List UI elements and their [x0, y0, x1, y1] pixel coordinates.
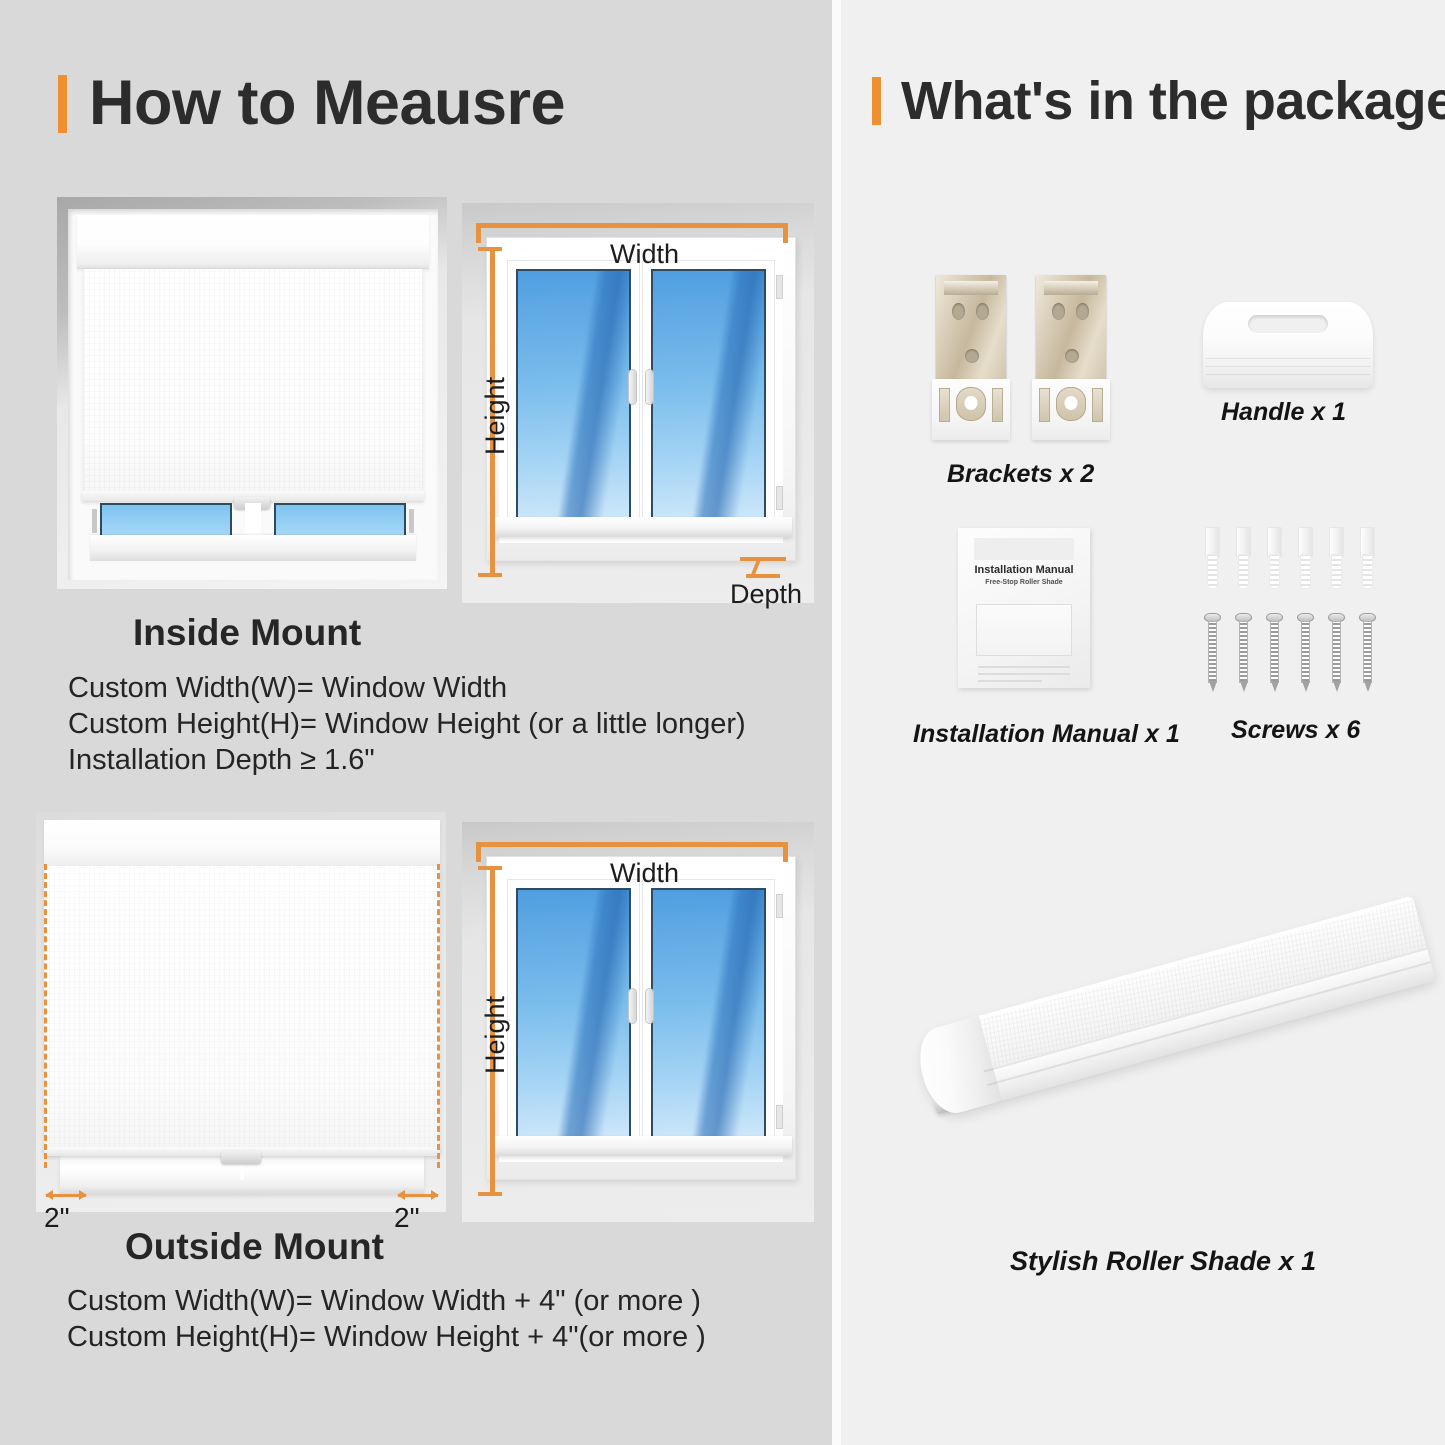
handle-grip-slot	[1248, 315, 1328, 333]
how-to-measure-panel: How to Meausre	[0, 0, 832, 1445]
visible-window-glass	[84, 503, 422, 561]
roller-shade-label: Stylish Roller Shade x 1	[1010, 1246, 1316, 1277]
screw-1	[1204, 613, 1221, 692]
brackets-label: Brackets x 2	[947, 460, 1094, 489]
window-frame-inner-2	[499, 869, 783, 1162]
wall-anchor-4	[1297, 527, 1314, 589]
bracket-2-plate	[1032, 379, 1110, 440]
bracket-1-plate	[932, 379, 1010, 440]
screws-image	[1204, 527, 1380, 692]
shade-headrail	[77, 215, 429, 269]
window-sill-ledge	[494, 517, 792, 537]
shade-fabric	[84, 269, 422, 494]
wall-anchor-3	[1266, 527, 1283, 589]
screw-3	[1266, 613, 1283, 692]
inside-mount-measure-diagram: Width Height Depth	[462, 203, 814, 603]
outside-mount-line-1: Custom Width(W)= Window Width + 4" (or m…	[67, 1283, 706, 1319]
handle-body	[1203, 302, 1373, 388]
width-callout-tick-left	[476, 223, 481, 243]
height-callout-tick-top-2	[478, 866, 502, 870]
width-callout-line	[476, 223, 788, 228]
window-glass-right-2	[651, 888, 766, 1143]
window-sash-right-2	[642, 879, 775, 1152]
width-callout-line-2	[476, 842, 788, 847]
sash-hinge-top-right-2	[777, 895, 782, 917]
bracket-2	[1032, 275, 1110, 440]
how-to-measure-heading: How to Meausre	[58, 72, 565, 135]
width-callout-tick-right	[783, 223, 788, 243]
depth-label: Depth	[730, 579, 802, 610]
overhang-guide-right	[437, 864, 440, 1168]
wall-anchor-1	[1204, 527, 1221, 589]
window-sash-right	[642, 260, 775, 533]
height-callout-tick-bottom-2	[478, 1192, 502, 1196]
inside-mount-line-2: Custom Height(H)= Window Height (or a li…	[68, 706, 746, 742]
inside-mount-instructions: Custom Width(W)= Window Width Custom Hei…	[68, 670, 746, 778]
window-glass-right	[651, 269, 766, 524]
roller-shade-end-cap	[911, 1016, 1002, 1120]
screw-2	[1235, 613, 1252, 692]
bracket-2-metal-body	[1036, 275, 1106, 387]
roller-shade-wrap	[905, 885, 1430, 1205]
roller-shade-tube	[911, 896, 1436, 1120]
screws-label: Screws x 6	[1231, 716, 1360, 745]
window-glass-left	[516, 269, 631, 524]
overhang-arrow-left	[46, 1194, 86, 1197]
roller-shade-image	[905, 885, 1430, 1205]
height-label-2: Height	[480, 996, 511, 1074]
screw-4	[1297, 613, 1314, 692]
window-hinge-right	[409, 509, 414, 533]
package-title: What's in the package	[901, 74, 1445, 128]
panel-divider	[832, 0, 841, 1445]
width-label: Width	[610, 239, 679, 270]
brackets-image	[932, 275, 1122, 440]
outside-mount-title: Outside Mount	[125, 1226, 384, 1268]
shade-headrail-outside	[44, 820, 440, 866]
window-frame	[486, 237, 796, 561]
window-sill	[90, 535, 416, 561]
shade-pull-handle-outside	[221, 1151, 261, 1164]
bracket-1	[932, 275, 1010, 440]
depth-callout-base	[746, 574, 780, 578]
overhang-arrow-right	[398, 1194, 438, 1197]
accent-bar-right	[872, 77, 881, 125]
handle-image	[1203, 302, 1373, 388]
sash-hinge-bottom-right	[777, 487, 782, 509]
bracket-1-metal-body	[936, 275, 1006, 387]
inside-mount-line-1: Custom Width(W)= Window Width	[68, 670, 746, 706]
how-to-measure-title: How to Meausre	[89, 72, 565, 135]
accent-bar-left	[58, 75, 67, 133]
height-callout-tick-bottom	[478, 573, 502, 577]
height-label: Height	[480, 377, 511, 455]
manual-header-band	[974, 538, 1074, 560]
manual-label: Installation Manual x 1	[913, 720, 1180, 749]
handle-label: Handle x 1	[1221, 398, 1346, 427]
inside-mount-shade-illustration	[57, 197, 447, 589]
outside-mount-shade-illustration: 2" 2"	[36, 812, 446, 1212]
overhang-label-left: 2"	[44, 1202, 70, 1234]
window-sash-left-2	[507, 879, 640, 1152]
infographic-page: How to Meausre	[0, 0, 1445, 1445]
depth-callout-line	[740, 557, 786, 561]
outside-mount-line-2: Custom Height(H)= Window Height + 4"(or …	[67, 1319, 706, 1355]
window-sill-ledge-2	[494, 1136, 792, 1156]
width-callout-tick-right-2	[783, 842, 788, 862]
window-frame-2	[486, 856, 796, 1180]
shade-fabric-outside	[44, 866, 440, 1150]
width-callout-tick-left-2	[476, 842, 481, 862]
manual-cover-figure	[976, 604, 1072, 656]
manual-cover-subtitle: Free-Stop Roller Shade	[958, 579, 1090, 586]
height-callout-tick-top	[478, 247, 502, 251]
wall-anchor-2	[1235, 527, 1252, 589]
package-heading: What's in the package	[872, 74, 1445, 128]
wall-anchor-5	[1328, 527, 1345, 589]
sash-hinge-top-right	[777, 276, 782, 298]
outside-mount-measure-diagram: Width Height	[462, 822, 814, 1222]
width-label-2: Width	[610, 858, 679, 889]
screw-6	[1359, 613, 1376, 692]
window-glass-left-2	[516, 888, 631, 1143]
overhang-label-right: 2"	[394, 1202, 420, 1234]
window-handles	[628, 370, 654, 406]
screw-5	[1328, 613, 1345, 692]
window-frame-inner	[499, 250, 783, 543]
window-handles-2	[628, 989, 654, 1025]
manual-cover-title: Installation Manual	[958, 564, 1090, 576]
manual-image: Installation Manual Free-Stop Roller Sha…	[958, 528, 1090, 688]
outside-mount-instructions: Custom Width(W)= Window Width + 4" (or m…	[67, 1283, 706, 1355]
window-hinge-left	[92, 509, 97, 533]
overhang-guide-left	[44, 864, 47, 1168]
inside-mount-line-3: Installation Depth ≥ 1.6"	[68, 742, 746, 778]
wall-anchor-6	[1359, 527, 1376, 589]
inside-mount-title: Inside Mount	[133, 612, 361, 654]
sash-hinge-bottom-right-2	[777, 1106, 782, 1128]
manual-cover: Installation Manual Free-Stop Roller Sha…	[958, 528, 1090, 688]
window-sash-left	[507, 260, 640, 533]
